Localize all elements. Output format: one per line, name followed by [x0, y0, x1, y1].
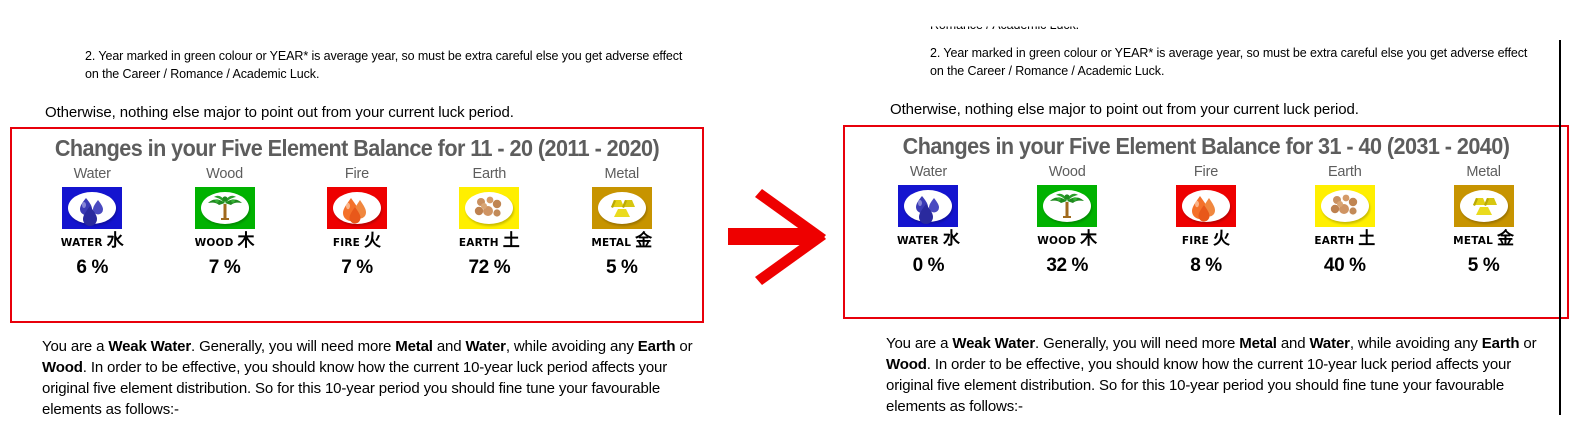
element-native-name-fire: FIRE 火 [1182, 231, 1230, 248]
transition-arrow [722, 183, 834, 291]
element-native-name-wood: WOOD 木 [195, 233, 255, 250]
elements-row: Water WATER 水 6 % Woo [12, 166, 702, 279]
summary-paragraph: You are a Weak Water. Generally, you wil… [886, 333, 1546, 417]
note-line-1: 2. Year marked in green colour or YEAR* … [85, 47, 682, 65]
panel-before: 2. Year marked in green colour or YEAR* … [0, 0, 720, 435]
element-cell-water: Water WATER 水 0 % [868, 164, 988, 277]
element-label-water: Water [74, 166, 111, 182]
element-cell-water: Water WATER 水 6 % [32, 166, 152, 279]
elements-row: Water WATER 水 0 % Woo [845, 164, 1567, 277]
tree-icon [195, 187, 255, 229]
element-percent-wood: 7 % [209, 257, 241, 279]
element-cell-wood: Wood WOOD [1007, 164, 1127, 277]
element-native-name-water: WATER 水 [61, 233, 124, 250]
element-native-name-wood: WOOD 木 [1037, 231, 1097, 248]
note-line-1: 2. Year marked in green colour or YEAR* … [930, 44, 1527, 62]
five-element-balance-box: Changes in your Five Element Balance for… [10, 127, 704, 323]
element-cell-earth: Earth EARTH 土 [429, 166, 549, 279]
element-percent-metal: 5 % [1468, 255, 1500, 277]
element-label-fire: Fire [345, 166, 369, 182]
flame-icon [327, 187, 387, 229]
panel-after: Romance / Academic Luck. 2. Year marked … [833, 0, 1581, 435]
element-percent-wood: 32 % [1046, 255, 1088, 277]
element-label-water: Water [910, 164, 947, 180]
element-cell-metal: Metal METAL 金 5 % [562, 166, 682, 279]
element-percent-fire: 8 % [1190, 255, 1222, 277]
element-cell-metal: Metal METAL 金 5 % [1424, 164, 1544, 277]
element-percent-water: 6 % [76, 257, 108, 279]
element-percent-fire: 7 % [341, 257, 373, 279]
stones-icon [1315, 185, 1375, 227]
element-cell-wood: Wood WOOD [165, 166, 285, 279]
ingots-icon [1454, 185, 1514, 227]
element-cell-fire: Fire FIRE 火 7 % [297, 166, 417, 279]
element-native-name-fire: FIRE 火 [333, 233, 381, 250]
element-percent-earth: 72 % [469, 257, 511, 279]
otherwise-note: Otherwise, nothing else major to point o… [45, 103, 514, 123]
stones-icon [459, 187, 519, 229]
balance-title: Changes in your Five Element Balance for… [867, 133, 1546, 160]
element-label-earth: Earth [473, 166, 507, 182]
element-native-name-water: WATER 水 [897, 231, 960, 248]
tree-icon [1037, 185, 1097, 227]
element-label-wood: Wood [1049, 164, 1086, 180]
water-drops-icon [62, 187, 122, 229]
element-native-name-metal: METAL 金 [591, 233, 652, 250]
element-native-name-metal: METAL 金 [1453, 231, 1514, 248]
element-label-fire: Fire [1194, 164, 1218, 180]
water-drops-icon [898, 185, 958, 227]
element-label-metal: Metal [1466, 164, 1500, 180]
element-native-name-earth: EARTH 土 [459, 233, 520, 250]
element-percent-earth: 40 % [1324, 255, 1366, 277]
element-cell-earth: Earth EARTH 土 [1285, 164, 1405, 277]
balance-title: Changes in your Five Element Balance for… [33, 135, 682, 162]
element-percent-metal: 5 % [606, 257, 638, 279]
otherwise-note: Otherwise, nothing else major to point o… [890, 100, 1359, 120]
element-cell-fire: Fire FIRE 火 8 % [1146, 164, 1266, 277]
note-line-2: on the Career / Romance / Academic Luck. [85, 65, 319, 83]
summary-paragraph: You are a Weak Water. Generally, you wil… [42, 336, 702, 420]
element-label-earth: Earth [1328, 164, 1362, 180]
note-clipped-line: Romance / Academic Luck. [930, 16, 1079, 34]
element-percent-water: 0 % [913, 255, 945, 277]
note-line-2: on the Career / Romance / Academic Luck. [930, 62, 1164, 80]
element-native-name-earth: EARTH 土 [1314, 231, 1375, 248]
ingots-icon [592, 187, 652, 229]
five-element-balance-box: Changes in your Five Element Balance for… [843, 125, 1569, 319]
document-page-edge [1559, 40, 1561, 415]
element-label-wood: Wood [206, 166, 243, 182]
flame-icon [1176, 185, 1236, 227]
element-label-metal: Metal [605, 166, 639, 182]
